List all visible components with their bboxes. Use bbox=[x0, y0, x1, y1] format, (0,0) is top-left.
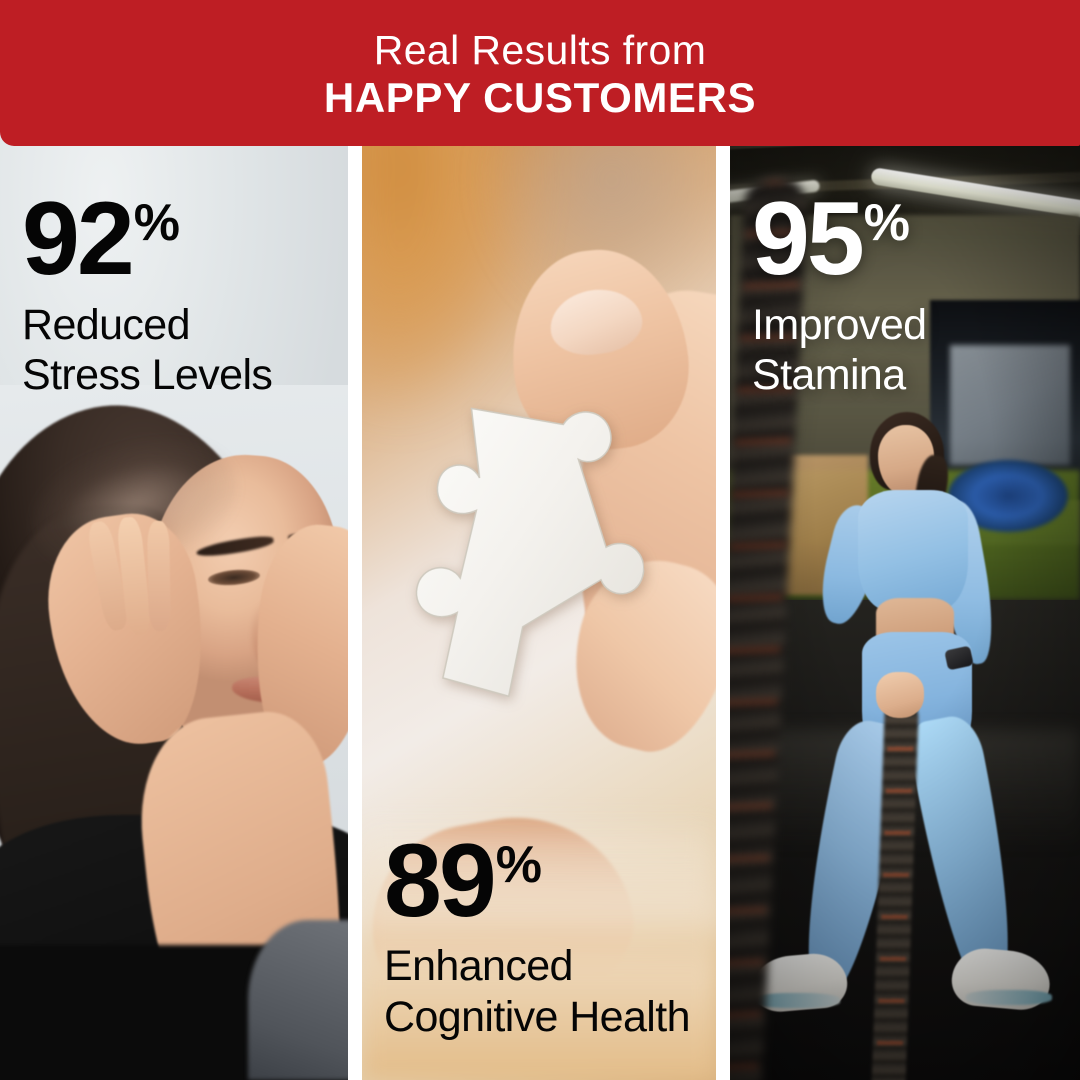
gym-battle-ropes-photo bbox=[730, 0, 1080, 1080]
panel-cognitive-health: 89 % Enhanced Cognitive Health bbox=[362, 0, 716, 1080]
stat-label: Reduced Stress Levels bbox=[22, 300, 272, 401]
panel-reduced-stress: 92 % Reduced Stress Levels bbox=[0, 0, 348, 1080]
header-subtitle: Real Results from bbox=[374, 29, 707, 72]
stat-label: Enhanced Cognitive Health bbox=[384, 941, 690, 1042]
stat-value-row: 95 % bbox=[752, 192, 926, 288]
stat-label: Improved Stamina bbox=[752, 300, 926, 401]
stat-block-improved-stamina: 95 % Improved Stamina bbox=[752, 192, 926, 400]
header-title: HAPPY CUSTOMERS bbox=[324, 76, 756, 120]
puzzle-piece-shape bbox=[379, 385, 655, 716]
stat-percent-sign: % bbox=[134, 200, 179, 248]
stat-panel-strip: 92 % Reduced Stress Levels bbox=[0, 0, 1080, 1080]
panel-improved-stamina: 95 % Improved Stamina bbox=[730, 0, 1080, 1080]
stat-block-cognitive-health: 89 % Enhanced Cognitive Health bbox=[384, 834, 690, 1042]
stat-number: 89 bbox=[384, 834, 494, 930]
stat-percent-sign: % bbox=[864, 200, 909, 248]
stat-block-reduced-stress: 92 % Reduced Stress Levels bbox=[22, 192, 272, 400]
stat-value-row: 92 % bbox=[22, 192, 272, 288]
stat-percent-sign: % bbox=[496, 842, 541, 890]
stressed-woman-photo bbox=[0, 0, 348, 1080]
stat-number: 95 bbox=[752, 192, 862, 288]
header-banner: Real Results from HAPPY CUSTOMERS bbox=[0, 0, 1080, 146]
stat-value-row: 89 % bbox=[384, 834, 690, 930]
stat-number: 92 bbox=[22, 192, 132, 288]
